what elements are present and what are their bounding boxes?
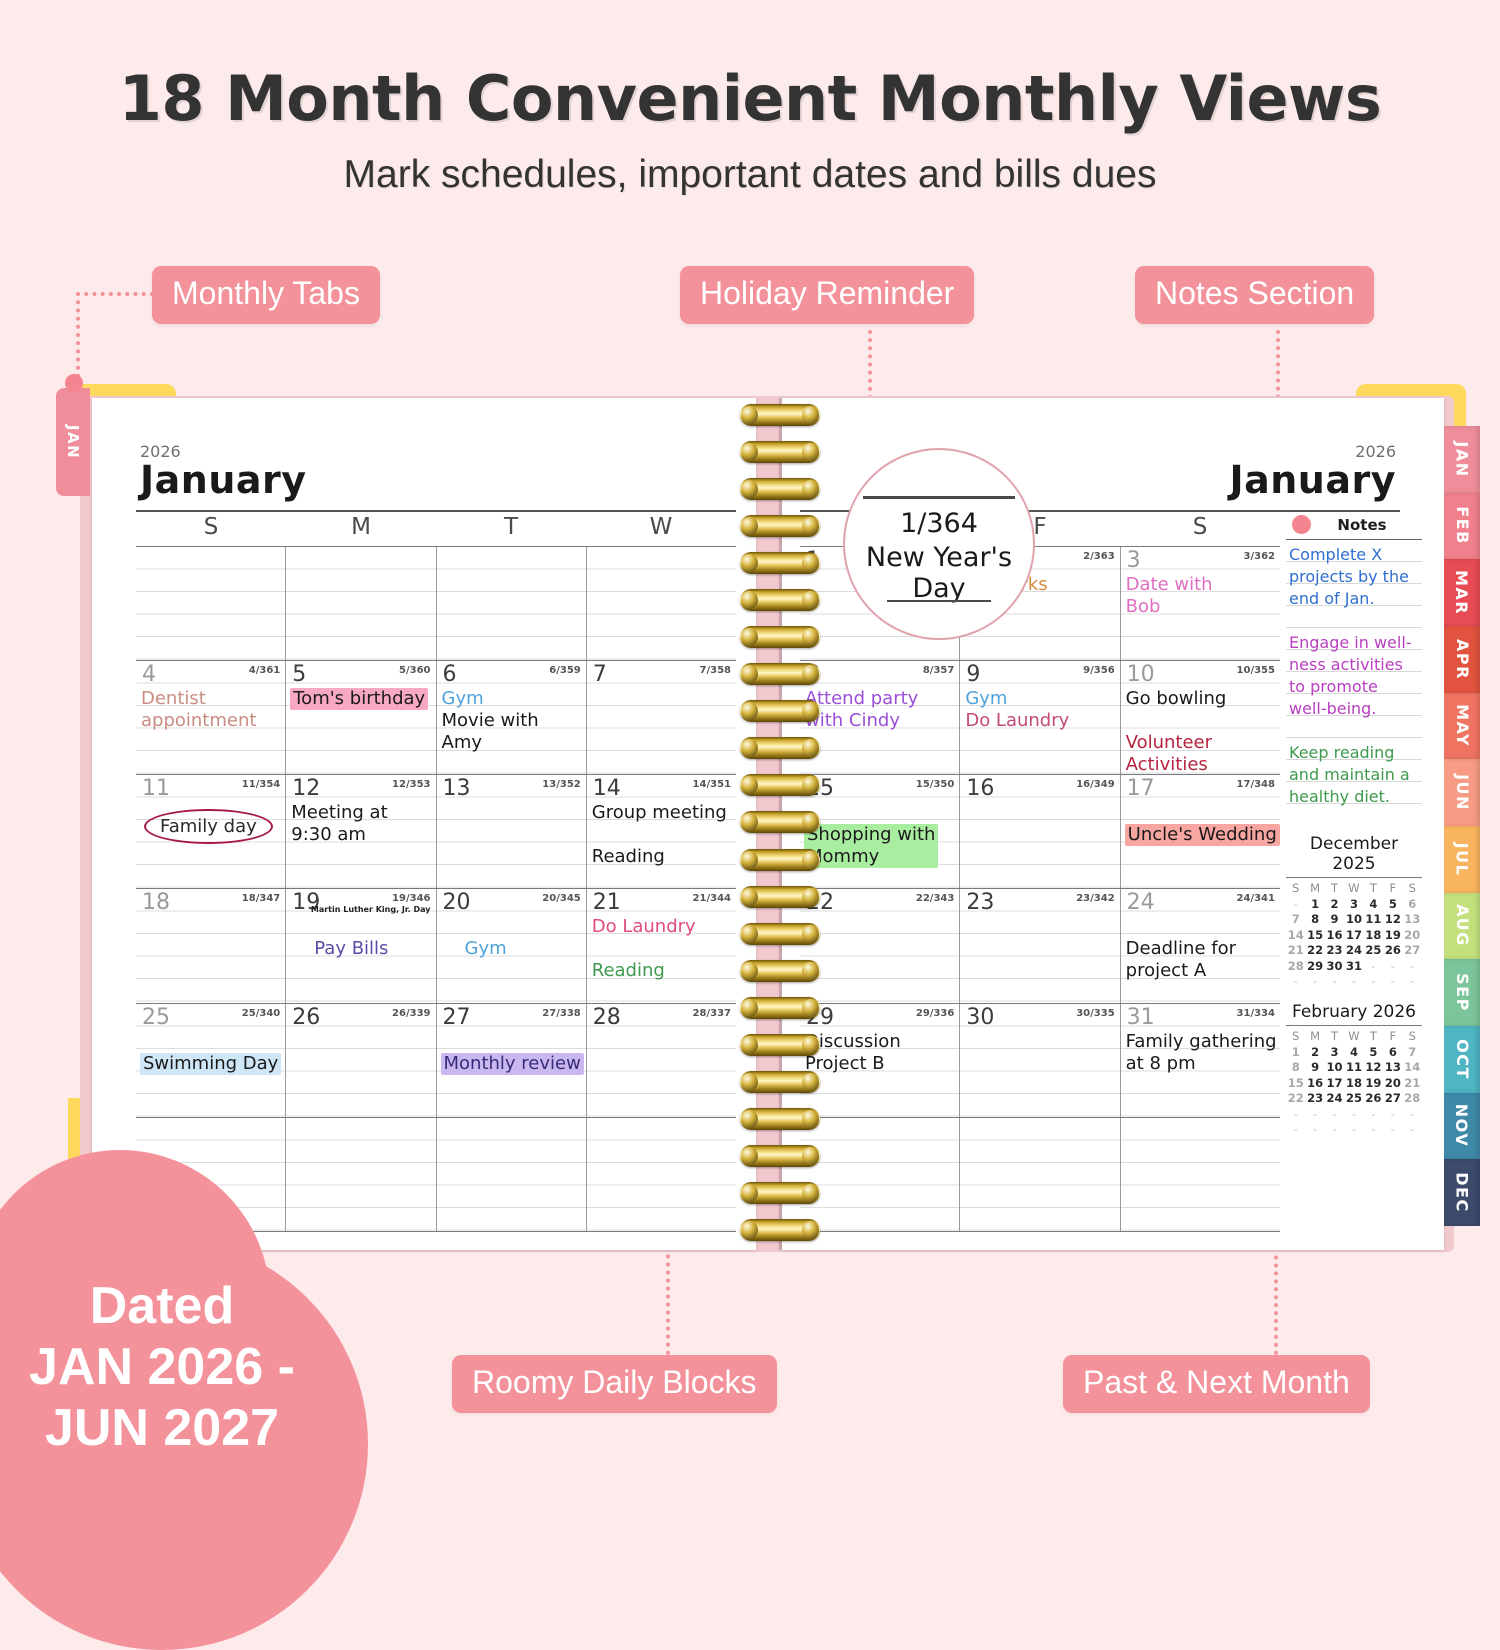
mini-day-cell[interactable]: 2 <box>1325 897 1344 911</box>
callout-roomy-daily-blocks: Roomy Daily Blocks <box>452 1355 777 1413</box>
day-entry-text: Shopping with Mommy <box>804 824 938 868</box>
day-cell-empty[interactable] <box>286 547 436 660</box>
day-of-year-fraction: 3/362 <box>1244 551 1275 562</box>
mini-day-header: T <box>1364 1029 1383 1043</box>
day-number: 17 <box>1127 776 1155 801</box>
mini-day-cell[interactable]: 8 <box>1305 912 1324 926</box>
planner-book: 2026 January SMTW 44/361Dentist appointm… <box>66 382 1466 1262</box>
day-entry-text: Family gathering at 8 pm <box>1126 1031 1277 1075</box>
mini-day-header: T <box>1325 1029 1344 1043</box>
mini-day-cell[interactable]: - <box>1383 1107 1402 1121</box>
day-of-year-fraction: 22/343 <box>916 893 954 904</box>
calendar-week-row <box>800 1118 1280 1232</box>
mini-day-header: M <box>1305 1029 1324 1043</box>
month-tab-label: MAR <box>1453 570 1472 615</box>
day-cell-29[interactable]: 2929/336Discussion Project B <box>800 1004 960 1117</box>
mini-day-cell[interactable]: 28 <box>1286 959 1305 973</box>
mini-day-cell[interactable]: 13 <box>1403 912 1422 926</box>
month-tab-mar[interactable]: MAR <box>1444 559 1480 626</box>
day-cell-8[interactable]: 88/357Attend party with Cindy <box>800 661 960 774</box>
day-of-year-fraction: 26/339 <box>392 1008 430 1019</box>
mini-day-cell[interactable]: 6 <box>1383 1045 1402 1059</box>
mini-day-cell[interactable]: 26 <box>1364 1091 1383 1105</box>
mini-calendars: December 2025SMTWTFS-1234567891011121314… <box>1286 834 1422 1136</box>
day-cell-31[interactable]: 3131/334Family gathering at 8 pm <box>1121 1004 1280 1117</box>
mini-day-header: M <box>1305 881 1324 895</box>
day-entry-text: Discussion Project B <box>805 1031 956 1075</box>
mini-day-cell[interactable]: 18 <box>1364 928 1383 942</box>
mini-day-cell[interactable]: 14 <box>1286 928 1305 942</box>
right-page-calendar-grid: 11/364New Year's Day22/363fireworks33/36… <box>800 546 1280 1232</box>
day-cell-rules <box>286 547 435 660</box>
month-tab-label: NOV <box>1453 1104 1472 1147</box>
month-tab-aug[interactable]: AUG <box>1444 893 1480 960</box>
day-of-year-fraction: 6/359 <box>549 665 580 676</box>
day-of-year-fraction: 9/356 <box>1083 665 1114 676</box>
day-number: 11 <box>142 776 170 801</box>
month-tab-label: FEB <box>1453 507 1472 546</box>
day-number: 31 <box>1127 1005 1155 1030</box>
day-of-year-fraction: 25/340 <box>242 1008 280 1019</box>
day-cell-7[interactable]: 77/358 <box>587 661 736 774</box>
mini-day-cell[interactable]: 25 <box>1364 943 1383 957</box>
spiral-coil <box>740 663 820 685</box>
mini-day-cell[interactable]: - <box>1325 1107 1344 1121</box>
mini-calendar-title: December 2025 <box>1286 834 1422 878</box>
mini-day-cell[interactable]: - <box>1383 959 1402 973</box>
mini-day-cell[interactable]: 15 <box>1305 928 1324 942</box>
day-cell-17[interactable]: 1717/348Uncle's Wedding <box>1121 775 1280 888</box>
day-number: 12 <box>292 776 320 801</box>
note-gap <box>1286 610 1422 632</box>
mini-day-cell[interactable]: - <box>1325 974 1344 988</box>
day-cell-3[interactable]: 33/362Date with Bob <box>1121 547 1280 660</box>
day-entry-text: Monthly review <box>441 1053 584 1075</box>
mini-day-header: S <box>1403 1029 1422 1043</box>
day-entry-text: Volunteer Activities <box>1126 732 1277 774</box>
day-number: 13 <box>443 776 471 801</box>
day-cell-empty[interactable] <box>960 1118 1120 1231</box>
dated-range-badge: Dated JAN 2026 - JUN 2027 <box>0 1238 368 1650</box>
day-entry-text: Reading <box>592 960 733 982</box>
day-cell-rules <box>587 661 736 774</box>
mini-day-cell[interactable]: 3 <box>1325 1045 1344 1059</box>
mini-day-cell[interactable]: 22 <box>1305 943 1324 957</box>
mini-day-cell[interactable]: 27 <box>1383 1091 1402 1105</box>
month-tab-oct[interactable]: OCT <box>1444 1026 1480 1093</box>
mini-day-header: F <box>1383 1029 1402 1043</box>
day-cell-9[interactable]: 99/356GymDo Laundry <box>960 661 1120 774</box>
mini-day-cell[interactable]: - <box>1286 897 1305 911</box>
left-tab-dot-icon <box>65 374 83 392</box>
mini-day-cell[interactable]: 9 <box>1305 1060 1324 1074</box>
mini-day-cell[interactable]: 13 <box>1383 1060 1402 1074</box>
mini-day-cell[interactable]: 29 <box>1305 959 1324 973</box>
spiral-coil <box>740 441 820 463</box>
day-cell-empty[interactable] <box>587 547 736 660</box>
month-tab-sep[interactable]: SEP <box>1444 959 1480 1026</box>
mini-day-cell[interactable]: 2 <box>1305 1045 1324 1059</box>
day-of-year-fraction: 19/346 <box>392 893 430 904</box>
mini-day-cell[interactable]: - <box>1403 974 1422 988</box>
spiral-coil <box>740 700 820 722</box>
day-cell-25[interactable]: 2525/340Swimming Day <box>136 1004 286 1117</box>
mini-day-cell[interactable]: 7 <box>1286 912 1305 926</box>
day-of-year-fraction: 7/358 <box>700 665 731 676</box>
day-cell-rules <box>437 1118 586 1231</box>
day-entry-text: Deadline for project A <box>1126 938 1277 982</box>
mini-day-cell[interactable]: 11 <box>1344 1060 1363 1074</box>
month-tab-nov[interactable]: NOV <box>1444 1093 1480 1160</box>
mini-day-cell[interactable]: - <box>1305 1107 1324 1121</box>
day-header-s-0: S <box>136 514 286 546</box>
day-number: 10 <box>1127 662 1155 687</box>
mini-day-cell[interactable]: 18 <box>1344 1076 1363 1090</box>
day-cell-empty[interactable] <box>587 1118 736 1231</box>
mini-day-header: S <box>1403 881 1422 895</box>
mini-day-cell[interactable]: 20 <box>1383 1076 1402 1090</box>
day-number: 27 <box>443 1005 471 1030</box>
spiral-coil <box>740 1182 820 1204</box>
mini-day-cell[interactable]: 21 <box>1286 943 1305 957</box>
callout-holiday-reminder: Holiday Reminder <box>680 266 974 324</box>
mini-day-cell[interactable]: 4 <box>1364 897 1383 911</box>
day-cell-12[interactable]: 1212/353Meeting at 9:30 am <box>286 775 436 888</box>
mini-day-header: T <box>1325 881 1344 895</box>
day-number: 3 <box>1127 548 1141 573</box>
day-number: 5 <box>292 662 306 687</box>
day-number: 26 <box>292 1005 320 1030</box>
day-entry-text: Dentist appointment <box>141 688 282 732</box>
day-cell-empty[interactable] <box>286 1118 436 1231</box>
mini-day-cell[interactable]: - <box>1325 1122 1344 1136</box>
spiral-coil <box>740 552 820 574</box>
day-of-year-fraction: 16/349 <box>1076 779 1114 790</box>
day-entry-text: Tom's birthday <box>290 688 428 710</box>
day-number: 28 <box>593 1005 621 1030</box>
day-cell-18[interactable]: 1818/347 <box>136 889 286 1002</box>
day-number: 7 <box>593 662 607 687</box>
mini-day-cell[interactable]: 10 <box>1344 912 1363 926</box>
mini-day-cell[interactable]: 3 <box>1344 897 1363 911</box>
notes-body[interactable]: Complete X projects by the end of Jan.En… <box>1286 540 1422 820</box>
day-cell-14[interactable]: 1414/351Group meetingReading <box>587 775 736 888</box>
day-cell-28[interactable]: 2828/337 <box>587 1004 736 1117</box>
mini-day-cell[interactable]: - <box>1403 959 1422 973</box>
mini-day-cell[interactable]: 12 <box>1364 1060 1383 1074</box>
mini-day-cell[interactable]: 14 <box>1403 1060 1422 1074</box>
mini-day-cell[interactable]: 1 <box>1286 1045 1305 1059</box>
month-tab-left-jan[interactable]: JAN <box>56 388 90 496</box>
dated-line-2: JAN 2026 - <box>0 1337 368 1398</box>
left-page-day-headers: SMTW <box>136 514 736 546</box>
holiday-label: Martin Luther King, Jr. Day <box>311 905 431 914</box>
spiral-coil <box>740 923 820 945</box>
calendar-week-row: 2222/3432323/3422424/341Deadline for pro… <box>800 889 1280 1003</box>
day-cell-15[interactable]: 1515/350Shopping with Mommy <box>800 775 960 888</box>
day-header-s-2: S <box>1120 514 1280 546</box>
spiral-coil <box>740 849 820 871</box>
spiral-coil <box>740 478 820 500</box>
mini-day-cell[interactable]: 25 <box>1344 1091 1363 1105</box>
day-header-t-2: T <box>436 514 586 546</box>
day-of-year-fraction: 13/352 <box>542 779 580 790</box>
calendar-week-row: 44/361Dentist appointment55/360Tom's bir… <box>136 661 736 775</box>
day-number: 9 <box>966 662 980 687</box>
day-entry-text: Swimming Day <box>140 1053 281 1075</box>
mini-day-cell[interactable]: 5 <box>1383 897 1402 911</box>
mini-calendar-title: February 2026 <box>1286 1002 1422 1026</box>
day-cell-4[interactable]: 44/361Dentist appointment <box>136 661 286 774</box>
day-cell-10[interactable]: 1010/355Go bowlingVolunteer Activities <box>1121 661 1280 774</box>
mini-day-cell[interactable]: - <box>1344 974 1363 988</box>
calendar-week-row: 1515/350Shopping with Mommy1616/3491717/… <box>800 775 1280 889</box>
mini-day-cell[interactable]: 20 <box>1403 928 1422 942</box>
day-number: 14 <box>593 776 621 801</box>
day-header-w-3: W <box>586 514 736 546</box>
day-cell-26[interactable]: 2626/339 <box>286 1004 436 1117</box>
month-tab-dec[interactable]: DEC <box>1444 1159 1480 1226</box>
mini-day-cell[interactable]: 23 <box>1325 943 1344 957</box>
note-entry-2: Engage in well- ness activities to promo… <box>1286 632 1422 720</box>
connector-monthly-tabs-v <box>76 292 80 378</box>
mini-day-cell[interactable]: 16 <box>1325 928 1344 942</box>
day-of-year-fraction: 28/337 <box>693 1008 731 1019</box>
day-of-year-fraction: 14/351 <box>693 779 731 790</box>
circled-entry: Family day <box>144 809 273 844</box>
day-cell-empty[interactable] <box>800 1118 960 1231</box>
day-cell-6[interactable]: 66/359GymMovie with Amy <box>437 661 587 774</box>
day-cell-30[interactable]: 3030/335 <box>960 1004 1120 1117</box>
right-page-month: January <box>1229 458 1396 502</box>
month-tab-feb[interactable]: FEB <box>1444 493 1480 560</box>
day-number: 23 <box>966 890 994 915</box>
month-tab-label: SEP <box>1453 973 1472 1012</box>
day-entry-text: Go bowling <box>1126 688 1277 710</box>
mini-day-cell[interactable]: - <box>1403 1122 1422 1136</box>
mini-day-cell[interactable]: 31 <box>1344 959 1363 973</box>
mini-day-cell[interactable]: 16 <box>1305 1076 1324 1090</box>
callout-notes-section: Notes Section <box>1135 266 1374 324</box>
day-cell-rules <box>136 547 285 660</box>
mini-day-cell[interactable]: 19 <box>1383 928 1402 942</box>
day-cell-empty[interactable] <box>437 1118 587 1231</box>
mini-day-cell[interactable]: - <box>1364 959 1383 973</box>
day-number: 16 <box>966 776 994 801</box>
mini-day-cell[interactable]: 28 <box>1403 1091 1422 1105</box>
magnifier-fraction: 1/364 <box>845 508 1033 539</box>
calendar-week-row: 2525/340Swimming Day2626/3392727/338Mont… <box>136 1004 736 1118</box>
mini-day-cell[interactable]: 27 <box>1403 943 1422 957</box>
day-of-year-fraction: 18/347 <box>242 893 280 904</box>
mini-calendar-grid: SMTWTFS123456789101112131415161718192021… <box>1286 1026 1422 1136</box>
day-cell-rules <box>587 1118 736 1231</box>
spiral-coil <box>740 774 820 796</box>
mini-day-cell[interactable]: - <box>1383 1122 1402 1136</box>
note-gap <box>1286 808 1422 830</box>
day-cell-rules <box>286 661 435 774</box>
day-cell-23[interactable]: 2323/342 <box>960 889 1120 1002</box>
mini-day-cell[interactable]: 17 <box>1325 1076 1344 1090</box>
planner-pages: 2026 January SMTW 44/361Dentist appointm… <box>92 398 1444 1250</box>
mini-day-cell[interactable]: 23 <box>1305 1091 1324 1105</box>
day-cell-empty[interactable] <box>136 547 286 660</box>
day-entry-text: Do Laundry <box>965 710 1116 732</box>
day-cell-rules <box>1121 1118 1280 1231</box>
mini-day-cell[interactable]: - <box>1364 974 1383 988</box>
mini-calendar-february-2026: February 2026SMTWTFS12345678910111213141… <box>1286 1002 1422 1136</box>
callout-monthly-tabs: Monthly Tabs <box>152 266 380 324</box>
day-cell-5[interactable]: 55/360Tom's birthday <box>286 661 436 774</box>
mini-day-cell[interactable]: 24 <box>1325 1091 1344 1105</box>
spiral-coil <box>740 1071 820 1093</box>
mini-day-cell[interactable]: 8 <box>1286 1060 1305 1074</box>
day-of-year-fraction: 31/334 <box>1237 1008 1275 1019</box>
day-of-year-fraction: 29/336 <box>916 1008 954 1019</box>
day-cell-19[interactable]: 1919/346Martin Luther King, Jr. DayPay B… <box>286 889 436 1002</box>
mini-day-cell[interactable]: - <box>1364 1122 1383 1136</box>
mini-day-cell[interactable]: 17 <box>1344 928 1363 942</box>
spiral-coil <box>740 626 820 648</box>
day-entry-text: Reading <box>592 846 733 868</box>
day-number: 21 <box>593 890 621 915</box>
day-entry-text: Meeting at 9:30 am <box>291 802 432 846</box>
calendar-page-left: 2026 January SMTW 44/361Dentist appointm… <box>92 398 756 1250</box>
month-tab-label: JUL <box>1452 842 1471 876</box>
mini-day-cell[interactable]: 19 <box>1364 1076 1383 1090</box>
month-tab-label: JUN <box>1453 774 1472 811</box>
day-entry-text: Gym <box>442 688 583 710</box>
mini-day-header: F <box>1383 881 1402 895</box>
day-cell-22[interactable]: 2222/343 <box>800 889 960 1002</box>
day-cell-empty[interactable] <box>437 547 587 660</box>
mini-day-cell[interactable]: 7 <box>1403 1045 1422 1059</box>
day-entry-text: Gym <box>965 688 1116 710</box>
mini-day-cell[interactable]: - <box>1403 1107 1422 1121</box>
month-tab-left-label: JAN <box>64 425 82 459</box>
dated-line-1: Dated <box>0 1276 368 1337</box>
spiral-coil <box>740 404 820 426</box>
month-tab-jul[interactable]: JUL <box>1444 826 1480 893</box>
day-entry-text: Movie with Amy <box>442 710 583 754</box>
day-of-year-fraction: 21/344 <box>693 893 731 904</box>
note-entry-1: Complete X projects by the end of Jan. <box>1286 544 1422 610</box>
spiral-coil <box>740 589 820 611</box>
day-cell-13[interactable]: 1313/352 <box>437 775 587 888</box>
page-title: 18 Month Convenient Monthly Views <box>0 66 1500 131</box>
spiral-coil <box>740 886 820 908</box>
spiral-coil <box>740 1219 820 1241</box>
left-page-rule <box>136 510 736 512</box>
mini-day-header: S <box>1286 881 1305 895</box>
mini-day-cell[interactable]: 26 <box>1383 943 1402 957</box>
day-cell-empty[interactable] <box>1121 1118 1280 1231</box>
day-number: 6 <box>443 662 457 687</box>
page-subtitle: Mark schedules, important dates and bill… <box>0 153 1500 197</box>
mini-calendar-december-2025: December 2025SMTWTFS-1234567891011121314… <box>1286 834 1422 988</box>
mini-day-cell[interactable]: 24 <box>1344 943 1363 957</box>
spiral-coil <box>740 1145 820 1167</box>
magnifier-rule-bottom <box>887 600 991 602</box>
mini-day-cell[interactable]: 10 <box>1325 1060 1344 1074</box>
mini-day-cell[interactable]: - <box>1305 1122 1324 1136</box>
month-tabs[interactable]: JANFEBMARAPRMAYJUNJULAUGSEPOCTNOVDEC <box>1444 426 1480 1226</box>
day-number: 25 <box>142 1005 170 1030</box>
mini-day-cell[interactable]: - <box>1305 974 1324 988</box>
day-cell-21[interactable]: 2121/344Do LaundryReading <box>587 889 736 1002</box>
left-page-calendar-grid: 44/361Dentist appointment55/360Tom's bir… <box>136 546 736 1232</box>
mini-day-cell[interactable]: 15 <box>1286 1076 1305 1090</box>
mini-day-cell[interactable]: - <box>1286 974 1305 988</box>
day-cell-rules <box>960 1118 1119 1231</box>
day-cell-24[interactable]: 2424/341Deadline for project A <box>1121 889 1280 1002</box>
mini-day-cell[interactable]: 22 <box>1286 1091 1305 1105</box>
month-tab-may[interactable]: MAY <box>1444 693 1480 760</box>
calendar-week-row: 1818/3471919/346Martin Luther King, Jr. … <box>136 889 736 1003</box>
mini-day-cell[interactable]: 4 <box>1344 1045 1363 1059</box>
month-tab-label: MAY <box>1453 705 1472 748</box>
magnifier-rule-top <box>863 496 1015 499</box>
spiral-coil <box>740 997 820 1019</box>
notes-header: Notes <box>1286 510 1422 540</box>
day-number: 18 <box>142 890 170 915</box>
spiral-binding <box>736 398 824 1250</box>
day-number: 24 <box>1127 890 1155 915</box>
mini-day-cell[interactable]: - <box>1344 1107 1363 1121</box>
month-tab-jun[interactable]: JUN <box>1444 759 1480 826</box>
day-of-year-fraction: 15/350 <box>916 779 954 790</box>
mini-day-cell[interactable]: 6 <box>1403 897 1422 911</box>
day-cell-27[interactable]: 2727/338Monthly review <box>437 1004 587 1117</box>
month-tab-label: OCT <box>1453 1039 1472 1080</box>
day-entry-text: Date with Bob <box>1126 574 1277 618</box>
mini-day-cell[interactable]: 30 <box>1325 959 1344 973</box>
day-cell-16[interactable]: 1616/349 <box>960 775 1120 888</box>
mini-calendar-grid: SMTWTFS-12345678910111213141516171819202… <box>1286 878 1422 988</box>
month-tab-label: DEC <box>1453 1172 1472 1212</box>
month-tab-apr[interactable]: APR <box>1444 626 1480 693</box>
day-cell-rules <box>437 547 586 660</box>
day-entry-text: Gym <box>465 938 583 960</box>
month-tab-label: JAN <box>1453 441 1472 477</box>
day-cell-20[interactable]: 2020/345Gym <box>437 889 587 1002</box>
mini-day-cell[interactable]: 1 <box>1305 897 1324 911</box>
mini-day-cell[interactable]: 21 <box>1403 1076 1422 1090</box>
mini-day-cell[interactable]: 5 <box>1364 1045 1383 1059</box>
month-tab-label: APR <box>1453 639 1472 680</box>
mini-day-cell[interactable]: 11 <box>1364 912 1383 926</box>
mini-day-cell[interactable]: - <box>1364 1107 1383 1121</box>
notes-bullet-icon <box>1292 515 1311 534</box>
calendar-week-row: 1111/354Family day1212/353Meeting at 9:3… <box>136 775 736 889</box>
day-number: 20 <box>443 890 471 915</box>
mini-day-cell[interactable]: 9 <box>1325 912 1344 926</box>
mini-day-cell[interactable]: - <box>1383 974 1402 988</box>
day-of-year-fraction: 2/363 <box>1083 551 1114 562</box>
mini-day-cell[interactable]: - <box>1286 1107 1305 1121</box>
spiral-coil <box>740 1034 820 1056</box>
mini-day-cell[interactable]: - <box>1344 1122 1363 1136</box>
day-entry-text: Attend party with Cindy <box>805 688 956 732</box>
mini-day-cell[interactable]: 12 <box>1383 912 1402 926</box>
mini-day-header: W <box>1344 881 1363 895</box>
day-cell-11[interactable]: 1111/354Family day <box>136 775 286 888</box>
day-of-year-fraction: 12/353 <box>392 779 430 790</box>
mini-day-cell[interactable]: - <box>1286 1122 1305 1136</box>
mini-day-header: T <box>1364 881 1383 895</box>
magnifier-holiday-name: New Year's Day <box>845 542 1033 604</box>
month-tab-jan[interactable]: JAN <box>1444 426 1480 493</box>
